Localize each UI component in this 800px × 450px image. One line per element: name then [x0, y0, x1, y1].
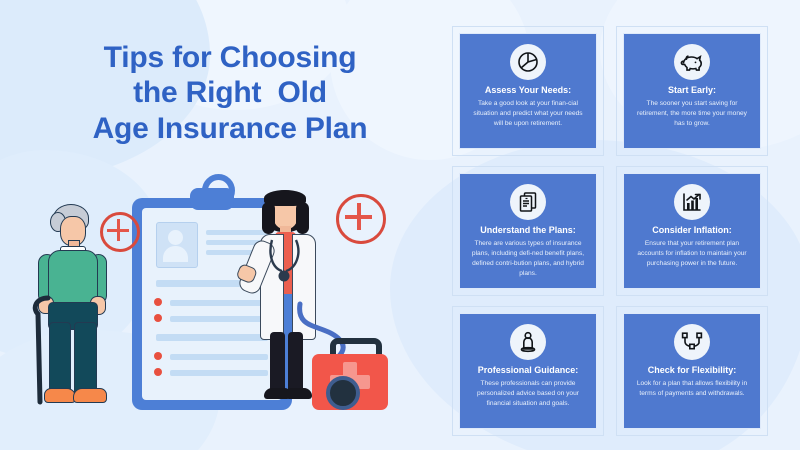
card-title: Check for Flexibility: — [648, 366, 737, 376]
card-frame: Professional Guidance: These professiona… — [452, 306, 604, 436]
card-body: Take a good look at your finan-cial situ… — [468, 99, 588, 129]
tip-card-understand-the-plans[interactable]: Understand the Plans: There are various … — [459, 173, 597, 289]
page-title: Tips for Choosing the Right Old Age Insu… — [40, 40, 420, 146]
stethoscope-icon — [266, 238, 310, 284]
card-body: These professionals can provide personal… — [468, 379, 588, 409]
card-title: Understand the Plans: — [480, 226, 576, 236]
tip-card-assess-your-needs[interactable]: Assess Your Needs: Take a good look at y… — [459, 33, 597, 149]
card-frame: Understand the Plans: There are various … — [452, 166, 604, 296]
tip-card-consider-inflation[interactable]: Consider Inflation: Ensure that your ret… — [623, 173, 761, 289]
red-plus-circle-left — [100, 212, 140, 252]
walking-cane-icon — [28, 290, 62, 408]
title-line-3: Age Insurance Plan — [40, 111, 420, 146]
piggy-bank-icon — [674, 44, 710, 80]
card-title: Start Early: — [668, 86, 716, 96]
infographic-canvas: Tips for Choosing the Right Old Age Insu… — [0, 0, 800, 450]
title-line-1: Tips for Choosing — [40, 40, 420, 75]
card-body: The sooner you start saving for retireme… — [632, 99, 752, 129]
flexibility-curve-icon — [674, 324, 710, 360]
pie-chart-icon — [510, 44, 546, 80]
tips-card-grid: Assess Your Needs: Take a good look at y… — [452, 26, 768, 436]
documents-icon — [510, 184, 546, 220]
person-advisor-icon — [510, 324, 546, 360]
tip-card-start-early[interactable]: Start Early: The sooner you start saving… — [623, 33, 761, 149]
card-title: Assess Your Needs: — [485, 86, 571, 96]
card-title: Professional Guidance: — [478, 366, 579, 376]
red-plus-circle-right — [336, 194, 386, 244]
tip-card-professional-guidance[interactable]: Professional Guidance: These professiona… — [459, 313, 597, 429]
title-line-2: the Right Old — [40, 75, 420, 110]
card-frame: Assess Your Needs: Take a good look at y… — [452, 26, 604, 156]
first-aid-kit-icon — [310, 340, 390, 420]
card-frame: Consider Inflation: Ensure that your ret… — [616, 166, 768, 296]
card-frame: Start Early: The sooner you start saving… — [616, 26, 768, 156]
card-body: Ensure that your retirement plan account… — [632, 239, 752, 269]
hero-illustration — [0, 150, 440, 450]
growth-chart-icon — [674, 184, 710, 220]
card-body: Look for a plan that allows flexibility … — [632, 379, 752, 399]
card-body: There are various types of insurance pla… — [468, 239, 588, 279]
card-title: Consider Inflation: — [652, 226, 732, 236]
card-frame: Check for Flexibility: Look for a plan t… — [616, 306, 768, 436]
tip-card-check-for-flexibility[interactable]: Check for Flexibility: Look for a plan t… — [623, 313, 761, 429]
